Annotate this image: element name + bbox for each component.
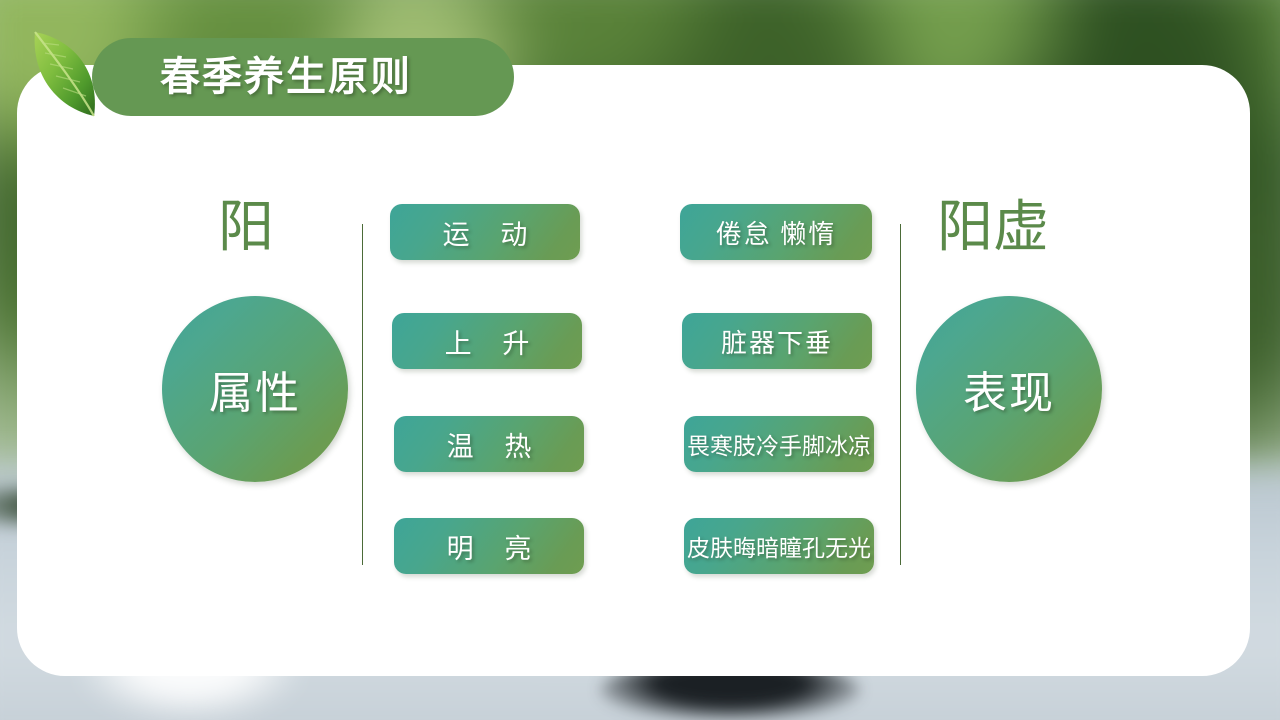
left-group-label: 阳 [218, 200, 274, 256]
left-item-3-label: 温 热 [394, 416, 584, 472]
right-item-2-label: 脏器下垂 [682, 313, 872, 369]
page-title: 春季养生原则 [160, 46, 500, 108]
left-attribute-circle[interactable]: 属性 [162, 296, 348, 482]
right-item-4[interactable]: 皮肤晦暗瞳孔无光 [684, 518, 874, 574]
left-divider [362, 224, 363, 565]
right-item-3[interactable]: 畏寒肢冷手脚冰凉 [684, 416, 874, 472]
left-item-3[interactable]: 温 热 [394, 416, 584, 472]
right-group-label: 阳虚 [937, 200, 1049, 256]
right-item-1-label: 倦怠 懒惰 [680, 204, 872, 260]
leaf-icon [18, 26, 114, 122]
right-item-3-label: 畏寒肢冷手脚冰凉 [684, 416, 874, 472]
right-divider [900, 224, 901, 565]
left-item-4-label: 明 亮 [394, 518, 584, 574]
left-item-4[interactable]: 明 亮 [394, 518, 584, 574]
left-item-2-label: 上 升 [392, 313, 582, 369]
left-item-1[interactable]: 运 动 [390, 204, 580, 260]
left-item-1-label: 运 动 [390, 204, 580, 260]
right-item-1[interactable]: 倦怠 懒惰 [680, 204, 872, 260]
right-item-4-label: 皮肤晦暗瞳孔无光 [684, 518, 874, 574]
right-manifestation-circle[interactable]: 表现 [916, 296, 1102, 482]
right-item-2[interactable]: 脏器下垂 [682, 313, 872, 369]
slide-canvas: 春季养生原则 阳 属性 运 动 上 升 温 热 明 亮 倦怠 懒惰 脏器下垂 畏… [0, 0, 1280, 720]
left-item-2[interactable]: 上 升 [392, 313, 582, 369]
left-circle-label: 属性 [162, 296, 348, 482]
right-circle-label: 表现 [916, 296, 1102, 482]
